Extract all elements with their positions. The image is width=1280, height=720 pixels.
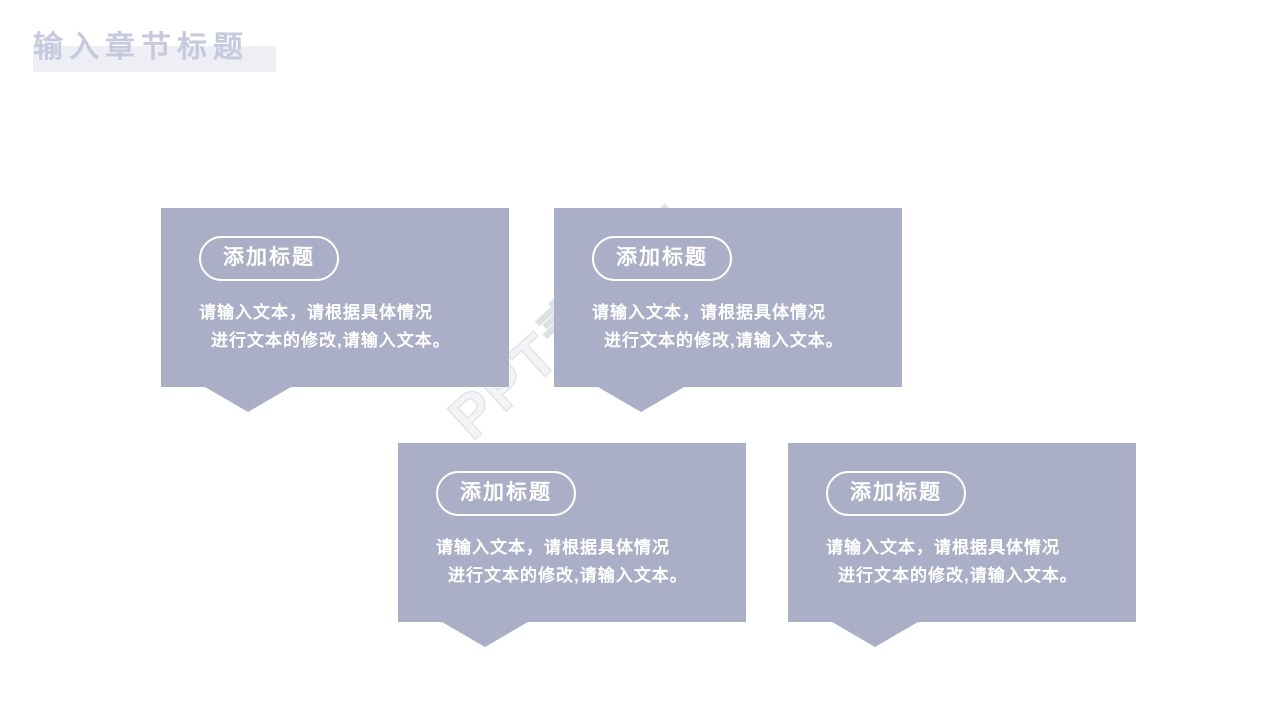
- info-card-4-content: 添加标题 请输入文本，请根据具体情况 进行文本的修改,请输入文本。: [788, 443, 1136, 622]
- info-card-4-title-pill[interactable]: 添加标题: [826, 471, 966, 516]
- info-card-3-title-pill[interactable]: 添加标题: [436, 471, 576, 516]
- info-card-3-body-line-1: 请输入文本，请根据具体情况: [436, 534, 722, 562]
- info-card-1-title-pill[interactable]: 添加标题: [199, 236, 339, 281]
- info-card-2-content: 添加标题 请输入文本，请根据具体情况 进行文本的修改,请输入文本。: [554, 208, 902, 387]
- info-card-2[interactable]: 添加标题 请输入文本，请根据具体情况 进行文本的修改,请输入文本。: [554, 208, 902, 387]
- info-card-4-body: 请输入文本，请根据具体情况 进行文本的修改,请输入文本。: [826, 534, 1112, 590]
- info-card-4[interactable]: 添加标题 请输入文本，请根据具体情况 进行文本的修改,请输入文本。: [788, 443, 1136, 622]
- info-card-3-body-line-2: 进行文本的修改,请输入文本。: [436, 562, 722, 590]
- info-card-2-body-line-2: 进行文本的修改,请输入文本。: [592, 327, 878, 355]
- info-card-1-body: 请输入文本，请根据具体情况 进行文本的修改,请输入文本。: [199, 299, 485, 355]
- page-title: 输入章节标题: [33, 28, 249, 68]
- info-card-2-body: 请输入文本，请根据具体情况 进行文本的修改,请输入文本。: [592, 299, 878, 355]
- slide-canvas: PPT素材网 输入章节标题 添加标题 请输入文本，请根据具体情况 进行文本的修改…: [0, 0, 1280, 720]
- info-card-2-title-pill[interactable]: 添加标题: [592, 236, 732, 281]
- info-card-4-body-line-2: 进行文本的修改,请输入文本。: [826, 562, 1112, 590]
- info-card-1[interactable]: 添加标题 请输入文本，请根据具体情况 进行文本的修改,请输入文本。: [161, 208, 509, 387]
- info-card-4-body-line-1: 请输入文本，请根据具体情况: [826, 534, 1112, 562]
- info-card-3[interactable]: 添加标题 请输入文本，请根据具体情况 进行文本的修改,请输入文本。: [398, 443, 746, 622]
- info-card-3-pointer-tail: [442, 622, 528, 647]
- info-card-1-body-line-2: 进行文本的修改,请输入文本。: [199, 327, 485, 355]
- info-card-4-pointer-tail: [832, 622, 918, 647]
- info-card-1-pointer-tail: [205, 387, 291, 412]
- section-title-group: 输入章节标题: [33, 28, 249, 68]
- info-card-2-body-line-1: 请输入文本，请根据具体情况: [592, 299, 878, 327]
- info-card-1-body-line-1: 请输入文本，请根据具体情况: [199, 299, 485, 327]
- info-card-3-body: 请输入文本，请根据具体情况 进行文本的修改,请输入文本。: [436, 534, 722, 590]
- info-card-2-pointer-tail: [598, 387, 684, 412]
- info-card-3-content: 添加标题 请输入文本，请根据具体情况 进行文本的修改,请输入文本。: [398, 443, 746, 622]
- info-card-1-content: 添加标题 请输入文本，请根据具体情况 进行文本的修改,请输入文本。: [161, 208, 509, 387]
